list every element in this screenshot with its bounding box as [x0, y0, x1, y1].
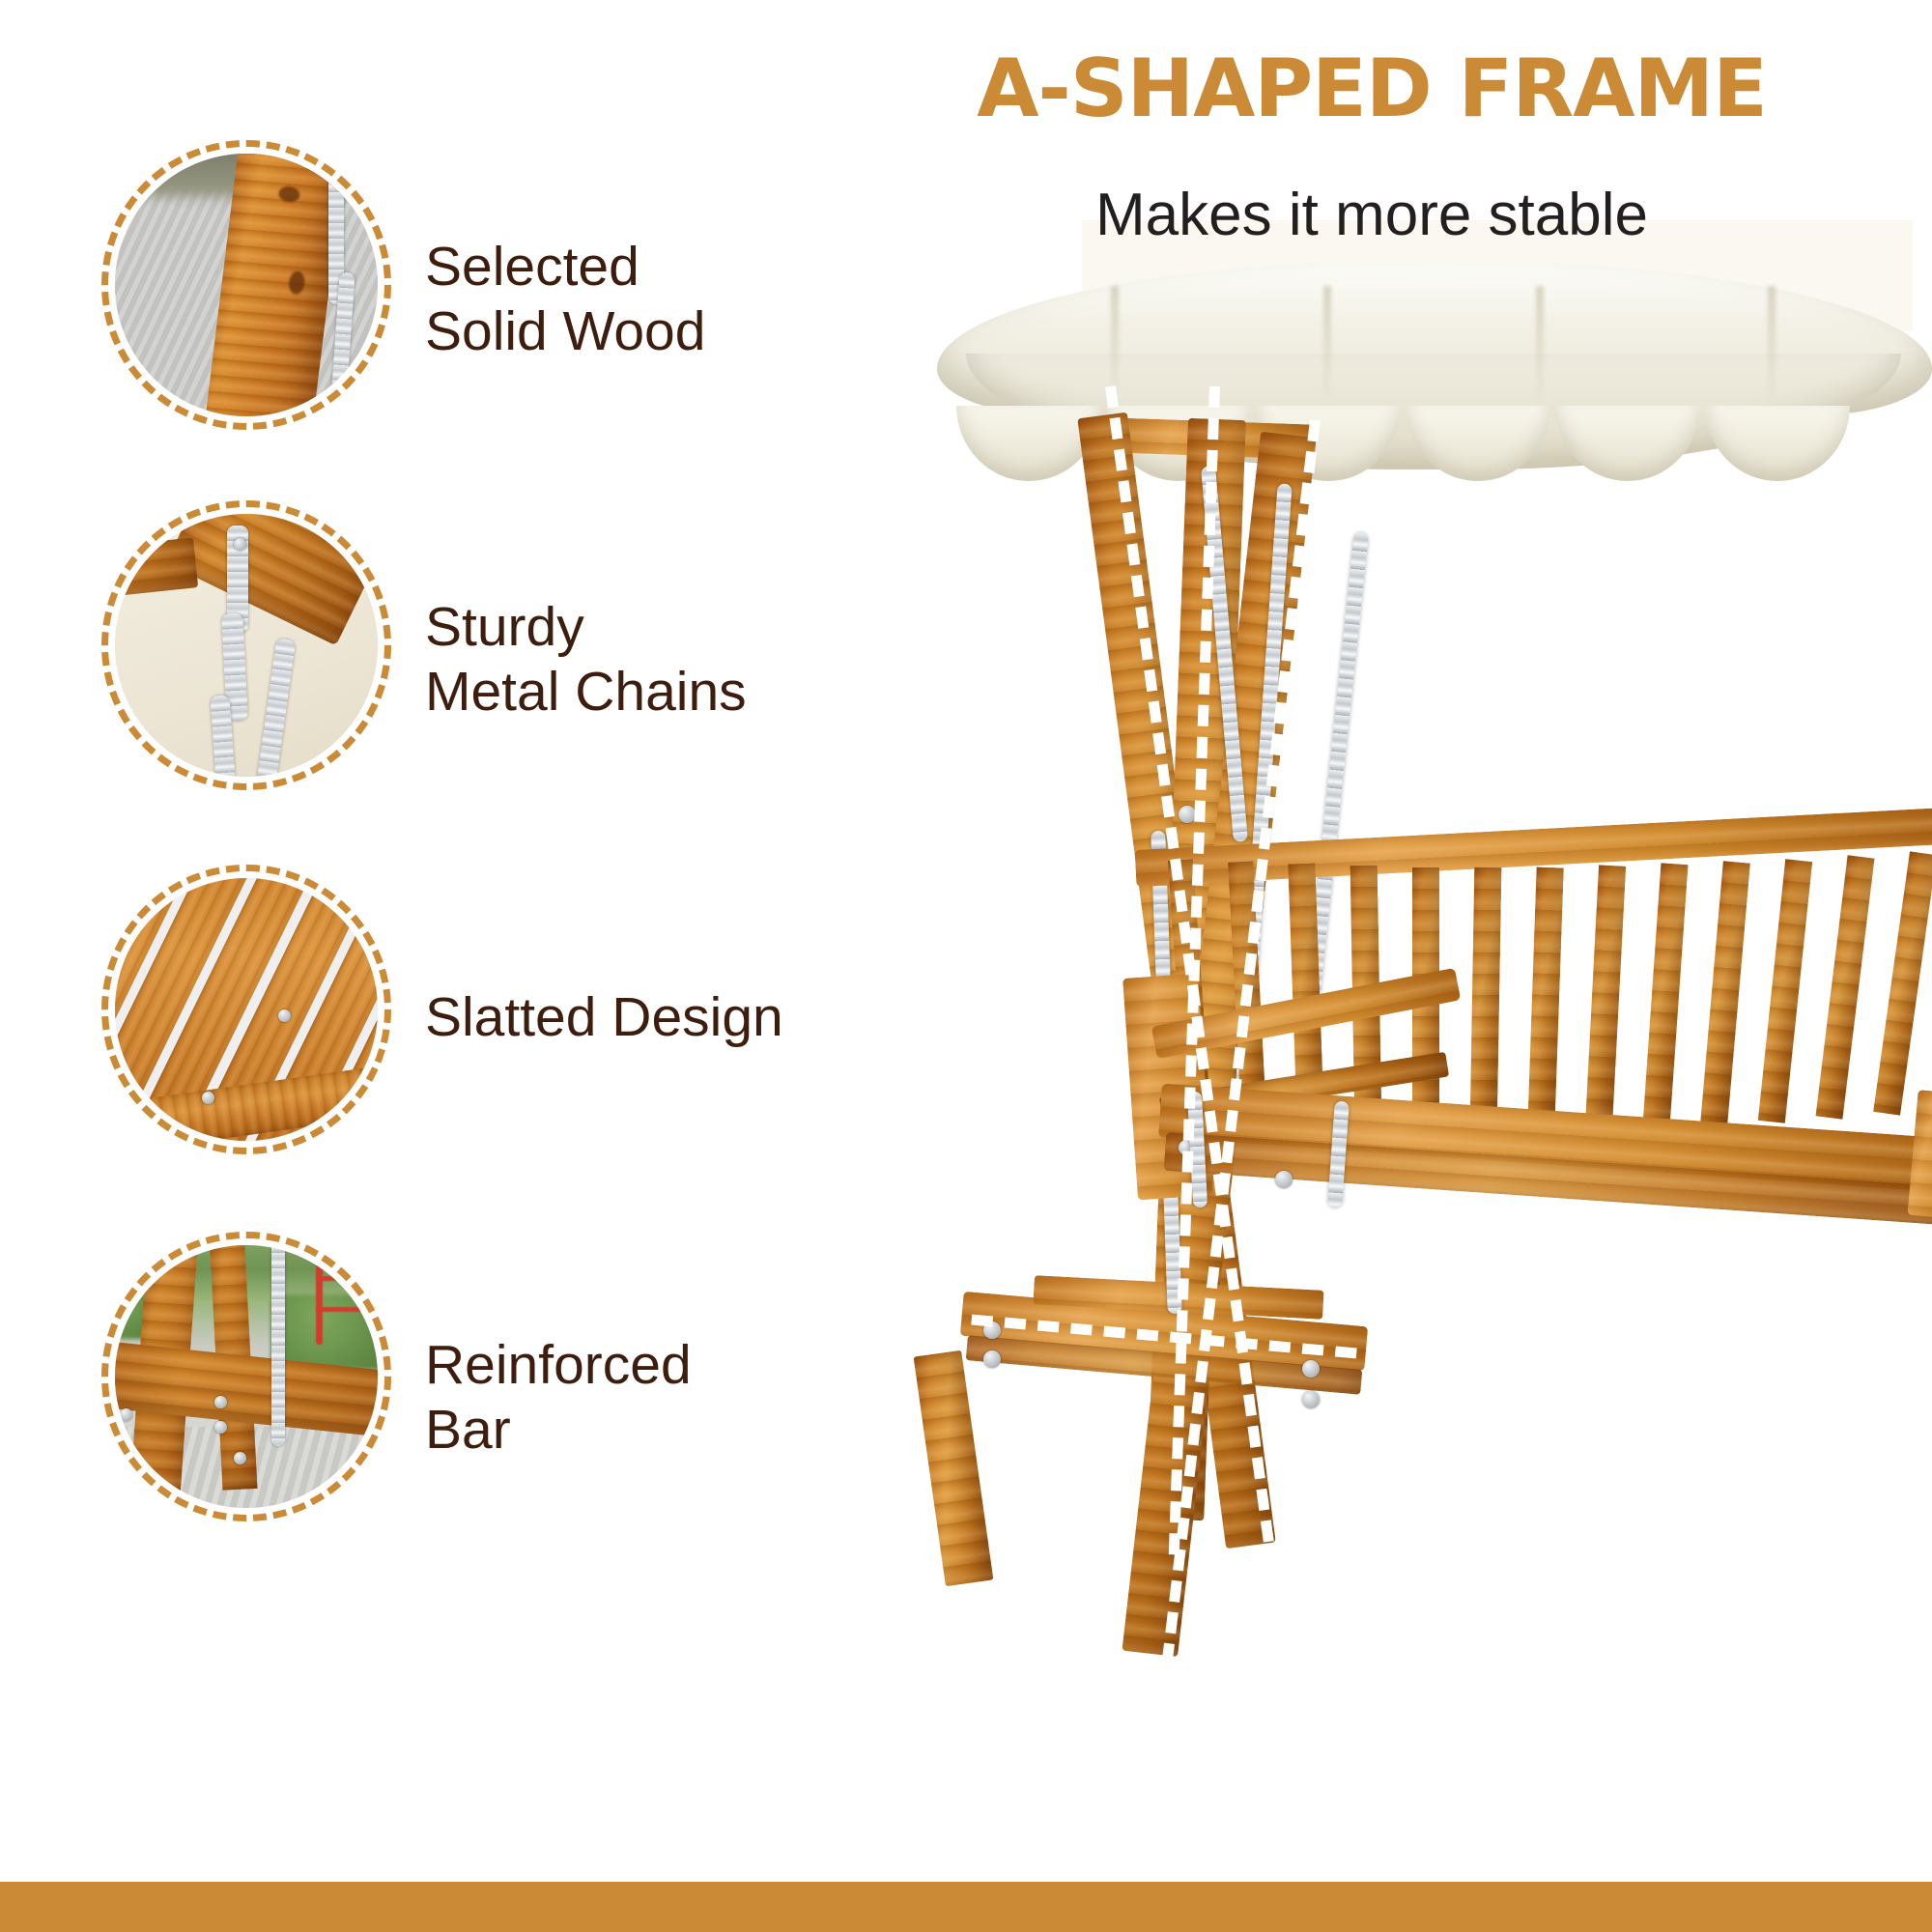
bolt [1302, 1391, 1320, 1408]
feature-thumbnail-2 [101, 500, 391, 790]
frame-foot-left [914, 1350, 994, 1587]
bench-back-slat [1527, 867, 1563, 1129]
bench-back-slat [1758, 859, 1812, 1122]
dashed-ring-4 [101, 1232, 391, 1521]
page-subtitle: Makes it more stable [831, 185, 1913, 245]
feature-thumbnail-1 [101, 140, 391, 430]
bench-back-slat [1873, 851, 1932, 1115]
bench-back-slat [1470, 867, 1502, 1128]
bolt [983, 1350, 1001, 1368]
page-title: A-SHAPED FRAME [831, 48, 1913, 128]
canopy-scallop [1406, 406, 1550, 481]
product-illustration [869, 241, 1932, 1845]
feature-label-4: Reinforced Bar [425, 1333, 692, 1463]
bench-back-slat [1816, 855, 1875, 1119]
feature-label-1: Selected Solid Wood [425, 235, 705, 365]
canopy-fold [1111, 286, 1119, 402]
bolt [1275, 1171, 1293, 1188]
feature-label-2: Sturdy Metal Chains [425, 595, 747, 725]
feature-thumbnail-4 [101, 1232, 391, 1521]
bench-back-slat [1700, 861, 1750, 1124]
bolt [1302, 1360, 1320, 1378]
feature-label-3: Slatted Design [425, 985, 783, 1050]
canopy-fold [1323, 286, 1331, 402]
canopy-scallop [956, 406, 1101, 481]
bench-back-slat [1643, 863, 1689, 1126]
canopy-scallop [1705, 406, 1850, 481]
bench-back-slat [1585, 865, 1626, 1128]
dashed-ring-3 [101, 865, 391, 1154]
infographic-page: A-SHAPED FRAME Makes it more stable Sele… [0, 0, 1932, 1932]
canopy-fold [1536, 286, 1544, 402]
canopy-fold [1768, 286, 1776, 402]
dashed-ring-1 [101, 140, 391, 430]
dashed-ring-2 [101, 500, 391, 790]
feature-thumbnail-3 [101, 865, 391, 1154]
canopy-scallop [1555, 406, 1700, 481]
footer-accent-bar [0, 1882, 1932, 1932]
